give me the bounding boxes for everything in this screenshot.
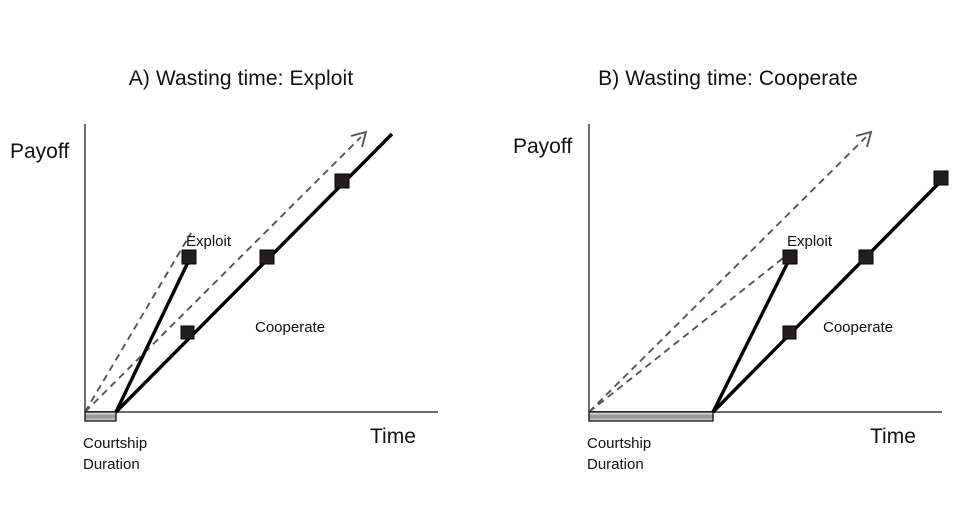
panel-b-exploit-dashed-line	[589, 255, 787, 412]
figure-root: A) Wasting time: Exploit Payoff Time	[0, 0, 964, 520]
chart-panel-b: B) Wasting time: Cooperate Payoff Time	[482, 0, 964, 520]
panel-a-cooperate-marker-3	[335, 174, 349, 188]
panel-a-solid-series	[116, 134, 392, 412]
panel-b-exploit-line	[713, 258, 790, 412]
panel-b-title: B) Wasting time: Cooperate	[598, 67, 858, 90]
panel-b-cooperate-marker-2	[859, 250, 873, 264]
panel-a-cooperate-marker-1	[181, 326, 194, 339]
panel-b-courtship-label-line1: Courtship	[587, 435, 651, 452]
panel-b-cooperate-marker-3	[934, 171, 948, 185]
panel-b-courtship-label-line2: Duration	[587, 456, 644, 473]
panel-a-cooperate-line	[116, 134, 392, 412]
panel-a-dashed-series	[85, 132, 366, 412]
panel-b-dashed-series	[589, 132, 871, 412]
panel-a-y-axis-label: Payoff	[10, 140, 69, 163]
panel-b-x-axis-label: Time	[870, 425, 916, 448]
panel-a-title: A) Wasting time: Exploit	[129, 67, 354, 90]
panel-a-exploit-label: Exploit	[186, 233, 232, 250]
panel-a-courtship-label-line2: Duration	[83, 456, 140, 473]
panel-a-exploit-line	[116, 258, 190, 412]
panel-b-cooperate-marker-1	[783, 326, 796, 339]
panel-a-cooperate-dashed-line	[85, 137, 361, 412]
panel-b-cooperate-line	[713, 180, 942, 412]
panel-b-svg: B) Wasting time: Cooperate Payoff Time	[482, 0, 964, 520]
panel-b-courtship-duration-bar	[589, 412, 713, 421]
panel-a-cooperate-label: Cooperate	[255, 319, 325, 336]
panel-a-cooperate-marker-2	[260, 250, 274, 264]
panel-a-x-axis-label: Time	[370, 425, 416, 448]
panel-a-exploit-marker	[182, 250, 196, 264]
panel-b-y-axis-label: Payoff	[513, 135, 572, 158]
panel-a-markers	[181, 174, 349, 339]
panel-a-svg: A) Wasting time: Exploit Payoff Time	[0, 0, 482, 520]
panel-b-exploit-label: Exploit	[787, 233, 833, 250]
panel-b-cooperate-dashed-line	[589, 137, 866, 412]
panel-b-solid-series	[713, 180, 942, 412]
chart-panel-a: A) Wasting time: Exploit Payoff Time	[0, 0, 482, 520]
panel-b-exploit-marker	[783, 250, 797, 264]
panel-a-courtship-label-line1: Courtship	[83, 435, 147, 452]
panel-a-courtship-duration-bar	[85, 412, 116, 421]
panel-b-cooperate-label: Cooperate	[823, 319, 893, 336]
